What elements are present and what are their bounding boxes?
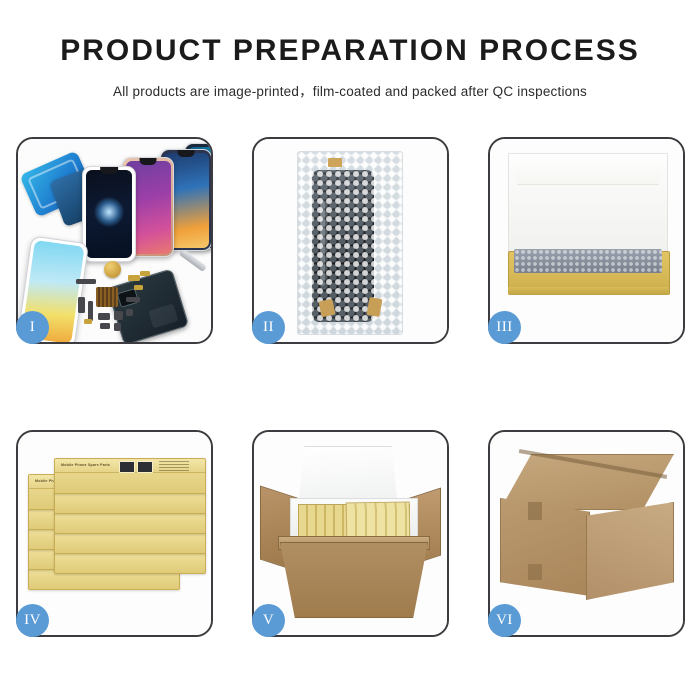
steps-grid: I II xyxy=(16,137,684,637)
step-badge-3: III xyxy=(488,311,521,344)
product-preparation-infographic: PRODUCT PREPARATION PROCESS All products… xyxy=(0,0,700,700)
step-badge-5: V xyxy=(252,604,285,637)
step-4-image: Mobile Phone Spare Parts Mobile Phone Sp… xyxy=(18,432,211,635)
box-label-upper: Mobile Phone Spare Parts xyxy=(61,463,110,467)
carton-tab-upper xyxy=(528,502,542,520)
carton-body xyxy=(280,542,428,618)
step-panel-3: III xyxy=(488,137,685,344)
tweezers-icon xyxy=(179,249,207,272)
box-stack: Mobile Phone Spare Parts Mobile Phone Sp… xyxy=(28,448,206,624)
step-3-image xyxy=(490,139,683,342)
step-2-image xyxy=(254,139,447,342)
step-1-image xyxy=(18,139,211,342)
sealed-carton-front xyxy=(500,498,590,596)
step-panel-5: V xyxy=(252,430,449,637)
page-subtitle: All products are image-printed，film-coat… xyxy=(0,80,700,100)
step-badge-6: VI xyxy=(488,604,521,637)
tape-bottom-left xyxy=(318,299,335,318)
inner-box-lip xyxy=(508,287,668,295)
bubble-layer xyxy=(298,152,402,334)
speaker-part-icon xyxy=(104,261,121,278)
step-badge-1: I xyxy=(16,311,49,344)
tape-top xyxy=(328,158,342,167)
spare-parts-cluster xyxy=(76,267,180,341)
step-badge-2: II xyxy=(252,311,285,344)
sealed-carton-side xyxy=(586,502,674,600)
step-panel-2: II xyxy=(252,137,449,344)
page-title: PRODUCT PREPARATION PROCESS xyxy=(0,36,700,66)
step-5-image xyxy=(254,432,447,635)
chip-grid-part xyxy=(96,287,118,307)
step-badge-4: IV xyxy=(16,604,49,637)
inner-box-lid-top xyxy=(508,153,668,185)
bubble-wrap-bag xyxy=(297,151,403,335)
step-6-image xyxy=(490,432,683,635)
step-panel-4: Mobile Phone Spare Parts Mobile Phone Sp… xyxy=(16,430,213,637)
bubble-wrapped-contents xyxy=(514,249,662,273)
step-panel-1: I xyxy=(16,137,213,344)
phone-device-1 xyxy=(82,166,136,262)
carton-tab-lower xyxy=(528,564,542,580)
header: PRODUCT PREPARATION PROCESS All products… xyxy=(0,0,700,100)
step-panel-6: VI xyxy=(488,430,685,637)
